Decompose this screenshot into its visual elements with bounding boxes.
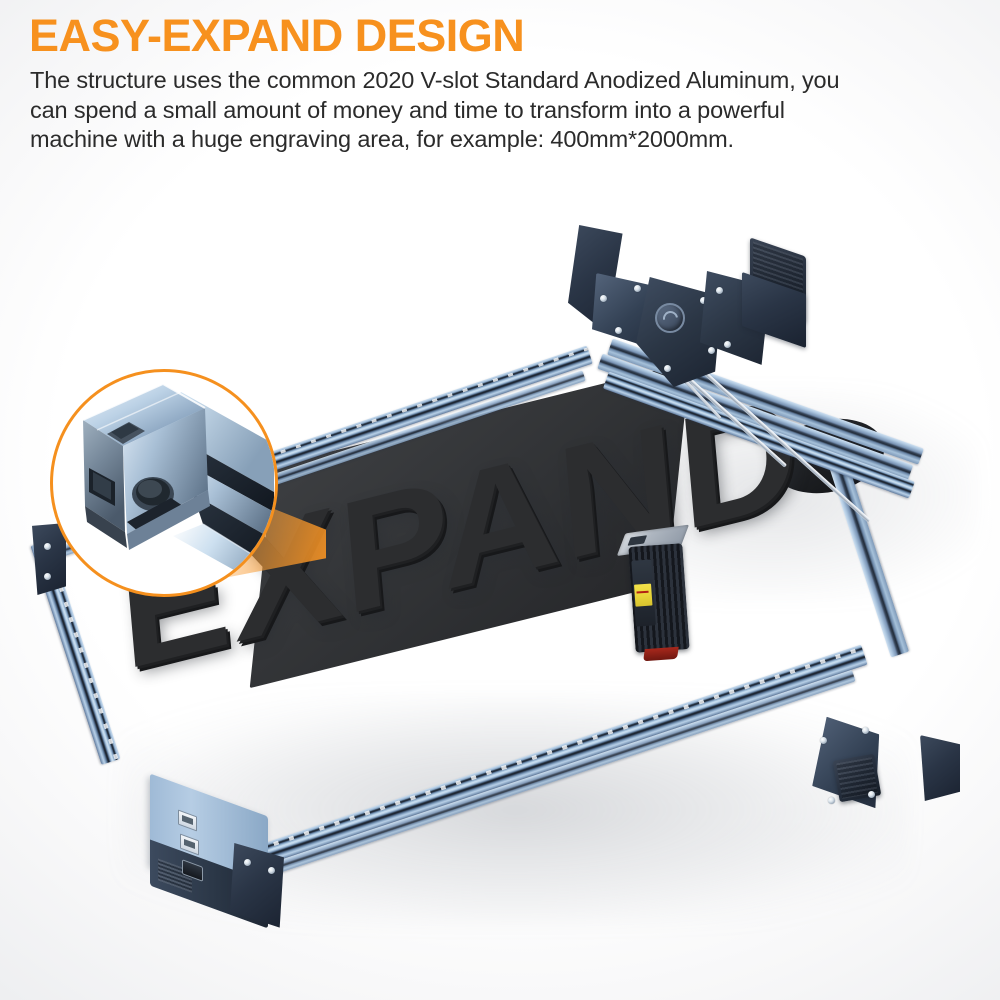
product-photo-stage: EXPAND [0, 175, 1000, 1000]
magnifier-circle [50, 369, 278, 597]
corner-bracket-right [920, 735, 960, 801]
screw [634, 285, 641, 292]
screw [862, 727, 869, 734]
screw [244, 859, 251, 866]
screw [716, 287, 723, 294]
screw [820, 737, 827, 744]
extrusion-detail-inset [48, 367, 298, 615]
body-line-2: can spend a small amount of money and ti… [30, 96, 960, 126]
screw [828, 797, 835, 804]
vslot-extrusion-drawing [53, 372, 274, 593]
screw [708, 347, 715, 354]
body-copy: The structure uses the common 2020 V-slo… [30, 66, 960, 155]
body-line-1: The structure uses the common 2020 V-slo… [30, 66, 960, 96]
screw [868, 791, 875, 798]
screw [268, 867, 275, 874]
screw [664, 365, 671, 372]
page-title: EASY-EXPAND DESIGN [29, 12, 524, 60]
product-marketing-image: EASY-EXPAND DESIGN The structure uses th… [0, 0, 1000, 1000]
body-line-3: machine with a huge engraving area, for … [30, 125, 960, 155]
screw [600, 295, 607, 302]
screw [615, 327, 622, 334]
laser-warning-label [634, 584, 652, 607]
laser-module [628, 543, 689, 653]
laser-nozzle [643, 647, 679, 662]
screw [724, 341, 731, 348]
spiral-logo [655, 303, 685, 333]
